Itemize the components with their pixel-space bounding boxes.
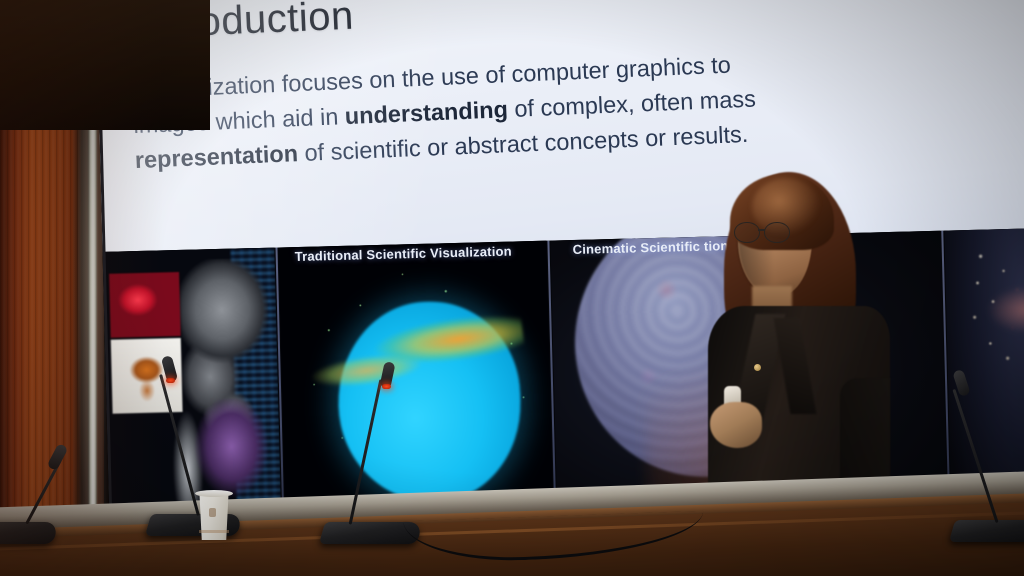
slide-line-2-post: of complex, often mass [507, 86, 756, 123]
speaker-hand [710, 402, 762, 448]
coffee-cup-rim [195, 490, 233, 497]
microphone-base [949, 520, 1024, 542]
slide-body-text: Visualization focuses on the use of comp… [143, 34, 1024, 177]
eyeglasses-right-lens [764, 222, 790, 243]
eyeglasses-bridge [758, 229, 765, 231]
thumbnail-red-volume [109, 272, 181, 338]
debris-nebula-glow [988, 286, 1024, 333]
jacket-pin [754, 364, 761, 371]
slide-line-2: images which aid in understanding of com… [133, 69, 1024, 143]
microphone-led-indicator [382, 384, 391, 389]
coffee-cup-logo [209, 508, 216, 517]
microphone-led-indicator [166, 378, 175, 383]
slide-line-3-post: of scientific or abstract concepts or re… [297, 121, 748, 166]
eyeglasses-icon [734, 222, 796, 242]
eyeglasses-left-lens [734, 222, 760, 243]
coffee-cup-band [199, 530, 229, 533]
presentation-photo: Introduction Visualization focuses on th… [0, 0, 1024, 576]
slide-emphasis-understanding: understanding [344, 96, 508, 129]
microphone-base [0, 522, 59, 544]
slide-line-1: Visualization focuses on the use of comp… [143, 34, 1024, 107]
slide-emphasis-representation: representation [134, 140, 298, 173]
desk-left-module [0, 0, 210, 130]
